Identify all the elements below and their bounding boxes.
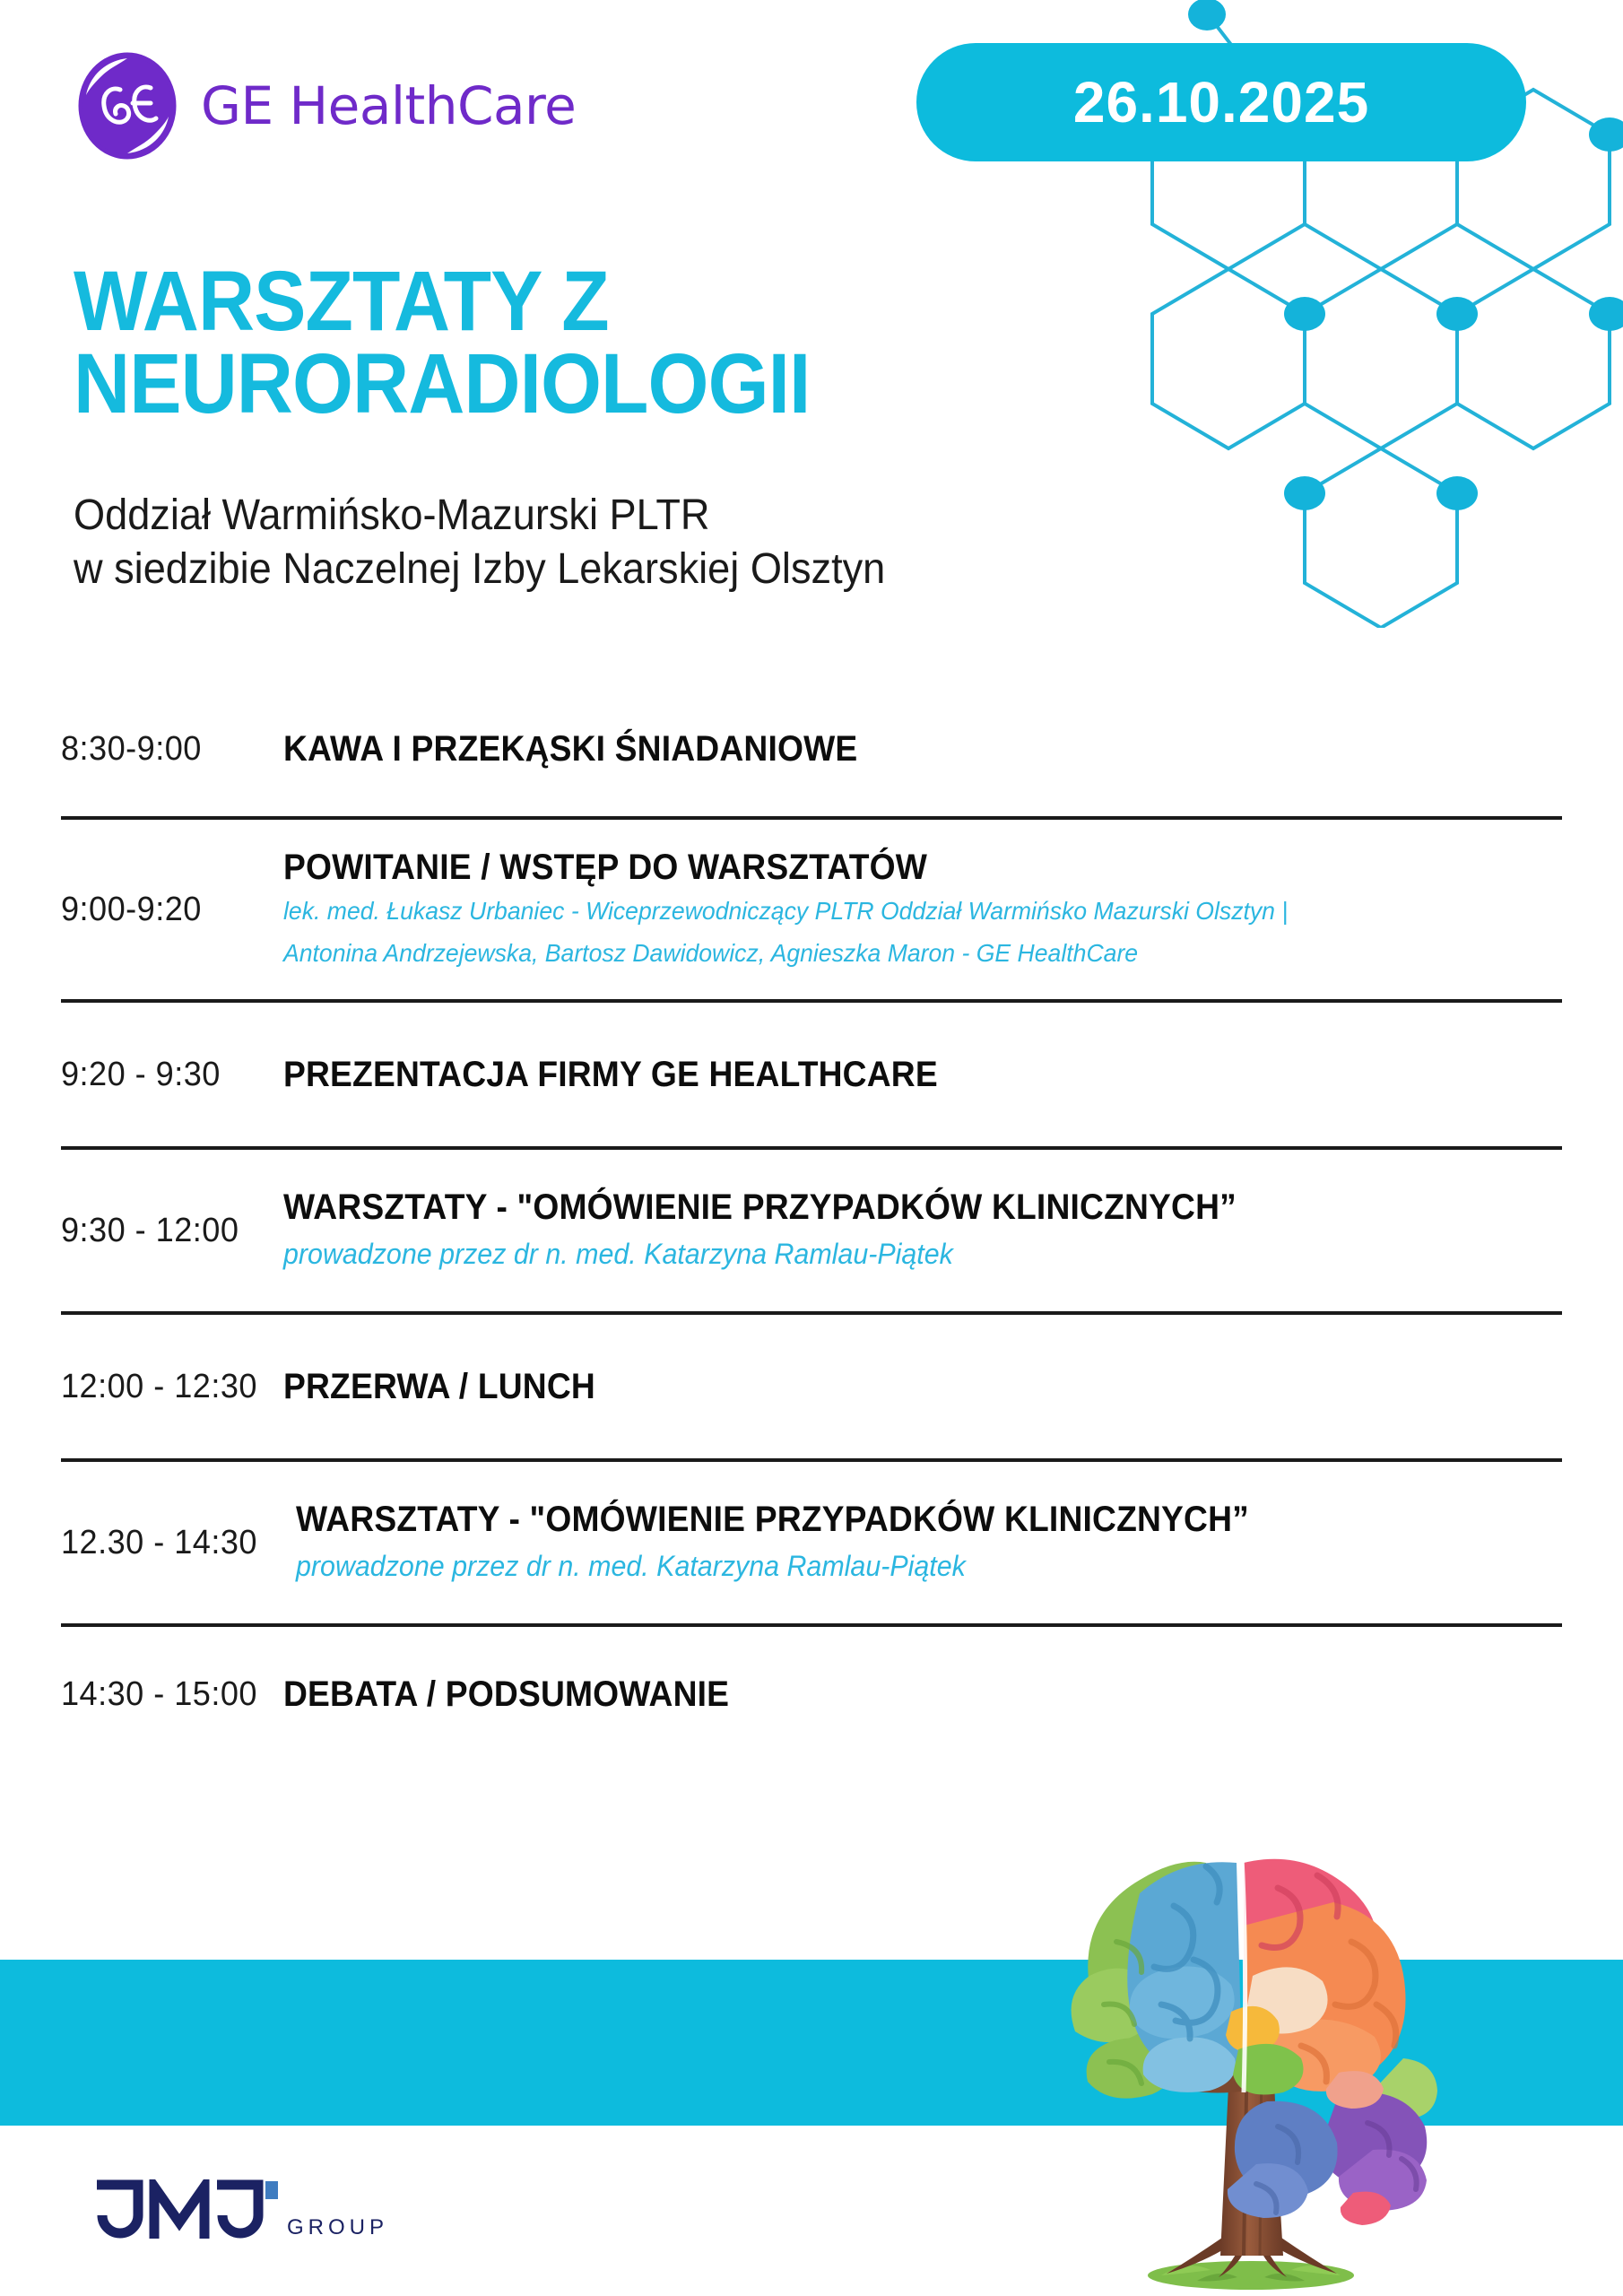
schedule-description: WARSZTATY - "OMÓWIENIE PRZYPADKÓW KLINIC… [283,1499,1562,1587]
schedule-description: DEBATA / PODSUMOWANIE [283,1674,1562,1715]
ge-wordmark-text: GE HealthCare [201,75,576,136]
title-line-2: NEURORADIOLOGII [74,343,1063,425]
schedule-title: KAWA I PRZEKĄSKI ŚNIADANIOWE [283,728,1472,770]
schedule-subtitle-line-2: Antonina Andrzejewska, Bartosz Dawidowic… [283,935,1498,972]
schedule-title: WARSZTATY - "OMÓWIENIE PRZYPADKÓW KLINIC… [296,1499,1473,1540]
poster-subtitle: Oddział Warmińsko-Mazurski PLTR w siedzi… [74,489,937,596]
jmj-group-label: GROUP [287,2215,388,2240]
schedule-time: 12:00 - 12:30 [61,1368,273,1406]
schedule-description: PRZERWA / LUNCH [283,1366,1562,1407]
jmj-wordmark-icon [90,2179,278,2244]
schedule-time: 9:00-9:20 [61,891,273,929]
schedule-row: 14:30 - 15:00 DEBATA / PODSUMOWANIE [0,1627,1623,1761]
event-date-text: 26.10.2025 [1073,69,1369,135]
poster-header: GE HealthCare 26.10.2025 [0,0,1623,206]
subtitle-line-1: Oddział Warmińsko-Mazurski PLTR [74,489,885,543]
schedule-time: 9:30 - 12:00 [61,1212,273,1250]
schedule-description: KAWA I PRZEKĄSKI ŚNIADANIOWE [283,728,1562,770]
schedule-title: WARSZTATY - "OMÓWIENIE PRZYPADKÓW KLINIC… [283,1187,1472,1228]
title-line-1: WARSZTATY Z [74,260,1063,343]
schedule-row: 9:00-9:20 POWITANIE / WSTĘP DO WARSZTATÓ… [0,820,1623,999]
subtitle-line-2: w siedzibie Naczelnej Izby Lekarskiej Ol… [74,543,885,596]
schedule-time: 14:30 - 15:00 [61,1675,273,1714]
schedule-time: 12.30 - 14:30 [61,1524,273,1562]
schedule-description: PREZENTACJA FIRMY GE HEALTHCARE [283,1054,1562,1095]
schedule-row: 12.30 - 14:30 WARSZTATY - "OMÓWIENIE PRZ… [0,1462,1623,1623]
schedule-title: POWITANIE / WSTĘP DO WARSZTATÓW [283,847,1472,888]
schedule-description: POWITANIE / WSTĘP DO WARSZTATÓW lek. med… [283,847,1562,971]
schedule-row: 9:30 - 12:00 WARSZTATY - "OMÓWIENIE PRZY… [0,1150,1623,1311]
event-date-badge: 26.10.2025 [916,43,1526,161]
schedule-title: PREZENTACJA FIRMY GE HEALTHCARE [283,1054,1472,1095]
schedule-row: 8:30-9:00 KAWA I PRZEKĄSKI ŚNIADANIOWE [0,682,1623,816]
poster-title: WARSZTATY Z NEURORADIOLOGII [74,260,1150,425]
schedule-subtitle-line-1: prowadzone przez dr n. med. Katarzyna Ra… [283,1233,1498,1274]
schedule-row: 9:20 - 9:30 PREZENTACJA FIRMY GE HEALTHC… [0,1003,1623,1146]
jmj-group-logo: GROUP [90,2179,388,2244]
ge-monogram-icon [74,52,181,160]
schedule-description: WARSZTATY - "OMÓWIENIE PRZYPADKÓW KLINIC… [283,1187,1562,1274]
schedule-subtitle-line-1: lek. med. Łukasz Urbaniec - Wiceprzewodn… [283,893,1498,930]
schedule-time: 8:30-9:00 [61,730,273,769]
schedule-title: PRZERWA / LUNCH [283,1366,1472,1407]
schedule-title: DEBATA / PODSUMOWANIE [283,1674,1472,1715]
event-schedule: 8:30-9:00 KAWA I PRZEKĄSKI ŚNIADANIOWE 9… [0,682,1623,1761]
ge-healthcare-logo: GE HealthCare [74,52,576,160]
schedule-subtitle-line-1: prowadzone przez dr n. med. Katarzyna Ra… [296,1545,1498,1587]
schedule-time: 9:20 - 9:30 [61,1056,273,1094]
brain-tree-illustration [982,1816,1538,2296]
schedule-row: 12:00 - 12:30 PRZERWA / LUNCH [0,1315,1623,1458]
